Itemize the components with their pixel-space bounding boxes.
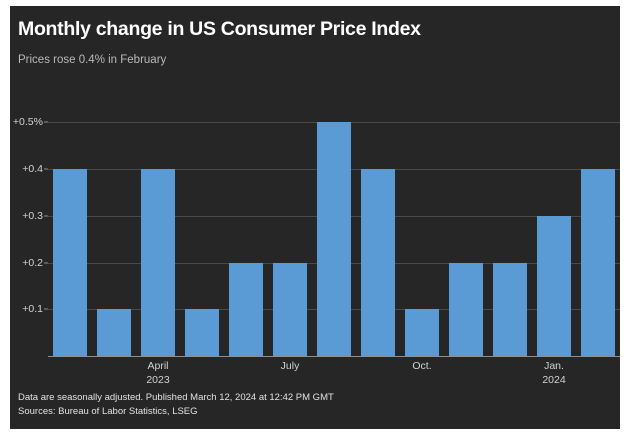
y-axis-tick-label: +0.1 [22,303,43,315]
bar[interactable] [361,169,395,356]
footer-sources: Sources: Bureau of Labor Statistics, LSE… [18,405,334,419]
bar[interactable] [493,263,527,356]
page-title: Monthly change in US Consumer Price Inde… [18,18,421,41]
bar[interactable] [97,309,131,356]
x-axis-tick-label: April2023 [146,359,169,387]
y-axis-tick-label: +0.3 [22,210,43,222]
x-axis-tick-label: Oct. [412,359,431,373]
chart-subtitle: Prices rose 0.4% in February [18,54,166,66]
bar[interactable] [185,309,219,356]
axis-baseline [48,356,620,357]
bar-series [48,99,620,356]
bar[interactable] [141,169,175,356]
y-axis-tick-label: +0.5% [13,116,43,128]
chart-panel: Monthly change in US Consumer Price Inde… [10,6,620,429]
x-axis-year-label: 2024 [542,373,565,387]
x-axis-tick-label: July [281,359,300,373]
bar[interactable] [537,216,571,356]
x-axis-year-label: 2023 [146,373,169,387]
footer-note: Data are seasonally adjusted. Published … [18,391,334,405]
y-axis-tick-label: +0.4 [22,163,43,175]
plot-area: +0.5%+0.4+0.3+0.2+0.1 [48,99,620,357]
bar[interactable] [53,169,87,356]
bar[interactable] [581,169,615,356]
y-axis-tick-label: +0.2 [22,257,43,269]
bar[interactable] [317,122,351,356]
bar[interactable] [449,263,483,356]
chart-figure: Monthly change in US Consumer Price Inde… [0,0,627,435]
x-axis-tick-label: Jan.2024 [542,359,565,387]
bar[interactable] [405,309,439,356]
chart-footer: Data are seasonally adjusted. Published … [18,391,334,419]
bar[interactable] [273,263,307,356]
bar[interactable] [229,263,263,356]
